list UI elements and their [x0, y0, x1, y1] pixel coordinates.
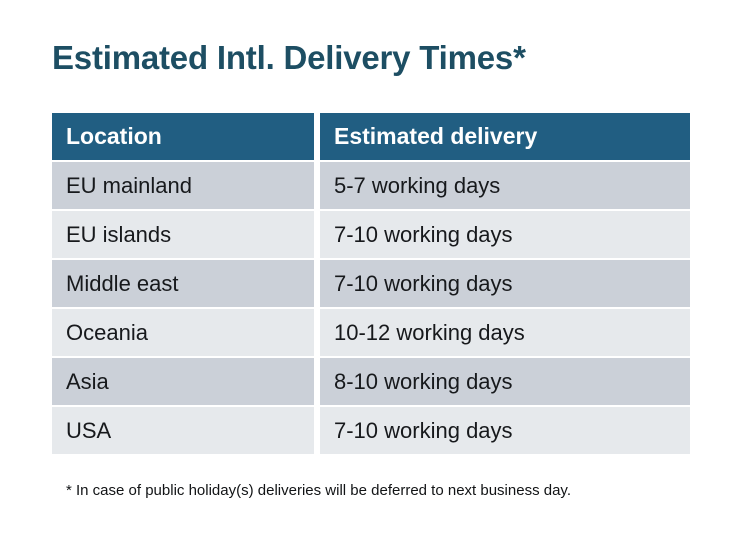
cell-estimated-delivery: 7-10 working days [320, 211, 690, 258]
table-row: Asia 8-10 working days [52, 358, 690, 405]
cell-estimated-delivery: 7-10 working days [320, 260, 690, 307]
cell-estimated-delivery: 7-10 working days [320, 407, 690, 454]
delivery-times-page: Estimated Intl. Delivery Times* Location… [0, 0, 745, 536]
cell-location: EU islands [52, 211, 314, 258]
table-row: Middle east 7-10 working days [52, 260, 690, 307]
column-header-location: Location [52, 113, 314, 160]
table-row: EU mainland 5-7 working days [52, 162, 690, 209]
cell-estimated-delivery: 5-7 working days [320, 162, 690, 209]
delivery-times-table: Location Estimated delivery EU mainland … [52, 113, 690, 454]
footnote-text: * In case of public holiday(s) deliverie… [66, 481, 571, 501]
cell-location: Oceania [52, 309, 314, 356]
cell-location: Middle east [52, 260, 314, 307]
cell-location: USA [52, 407, 314, 454]
cell-estimated-delivery: 10-12 working days [320, 309, 690, 356]
table-row: Oceania 10-12 working days [52, 309, 690, 356]
cell-estimated-delivery: 8-10 working days [320, 358, 690, 405]
table-row: EU islands 7-10 working days [52, 211, 690, 258]
table-row: USA 7-10 working days [52, 407, 690, 454]
table-header-row: Location Estimated delivery [52, 113, 690, 160]
cell-location: Asia [52, 358, 314, 405]
column-header-estimated-delivery: Estimated delivery [320, 113, 690, 160]
page-title: Estimated Intl. Delivery Times* [52, 36, 526, 80]
cell-location: EU mainland [52, 162, 314, 209]
